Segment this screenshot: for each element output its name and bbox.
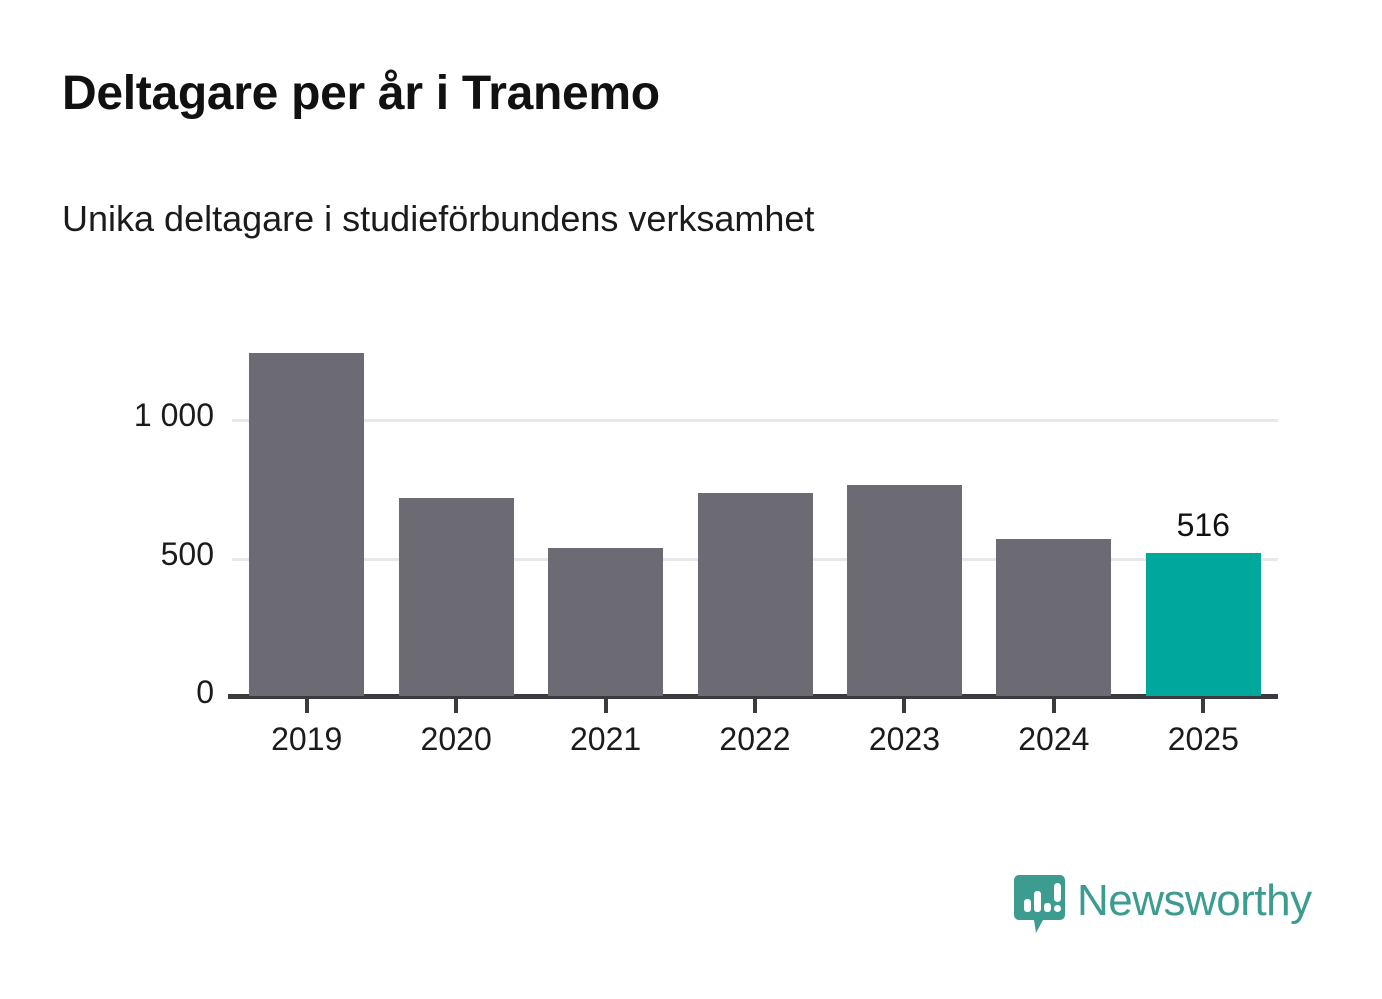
bar-2022[interactable]: [698, 493, 813, 696]
logo-wordmark: Newsworthy: [1077, 879, 1312, 931]
y-axis-label: 0: [196, 674, 214, 711]
x-axis-tick: [902, 699, 906, 713]
x-axis-label-2019: 2019: [271, 721, 342, 758]
y-axis-label: 1 000: [134, 397, 214, 434]
x-axis-label-2023: 2023: [869, 721, 940, 758]
x-axis-tick: [305, 699, 309, 713]
x-axis-label-2025: 2025: [1168, 721, 1239, 758]
bar-2025[interactable]: [1146, 553, 1261, 696]
x-axis-tick: [1052, 699, 1056, 713]
x-axis-tick: [604, 699, 608, 713]
bar-chart-plot: 05001 0002019202020212022202320242025516: [0, 0, 1382, 999]
speech-bubble-bar-chart-icon: [1013, 874, 1066, 936]
gridline: [232, 419, 1278, 422]
bar-2023[interactable]: [847, 485, 962, 696]
x-axis-tick: [753, 699, 757, 713]
x-axis-label-2024: 2024: [1018, 721, 1089, 758]
y-axis-label: 500: [161, 536, 214, 573]
chart-page: Deltagare per år i Tranemo Unika deltaga…: [0, 0, 1382, 999]
x-axis-tick: [454, 699, 458, 713]
bar-value-label-2025: 516: [1177, 507, 1230, 544]
x-axis-label-2022: 2022: [719, 721, 790, 758]
newsworthy-logo: Newsworthy: [1013, 874, 1312, 936]
x-axis-label-2020: 2020: [421, 721, 492, 758]
bar-2020[interactable]: [399, 498, 514, 696]
bar-2021[interactable]: [548, 548, 663, 696]
x-axis-label-2021: 2021: [570, 721, 641, 758]
bar-2019[interactable]: [249, 353, 364, 696]
x-axis-tick: [1201, 699, 1205, 713]
bar-2024[interactable]: [996, 539, 1111, 696]
